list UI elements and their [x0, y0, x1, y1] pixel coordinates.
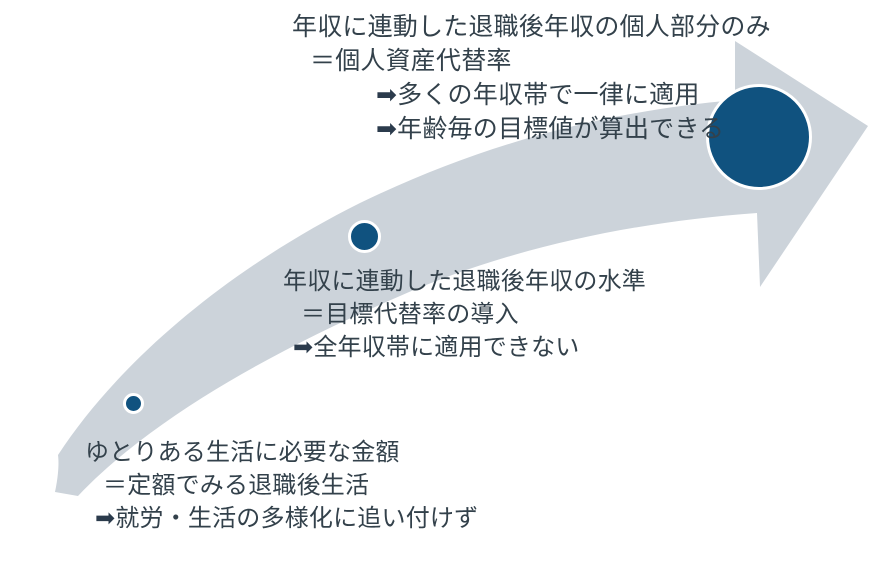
text-block-stage3: 年収に連動した退職後年収の個人部分のみ ＝個人資産代替率 ➡多くの年収帯で一律に…	[292, 10, 771, 146]
stage3-line-2: ＝個人資産代替率	[292, 44, 771, 78]
text-block-stage1: ゆとりある生活に必要な金額 ＝定額でみる退職後生活 ➡就労・生活の多様化に追い付…	[85, 437, 478, 536]
arrow-bullet-icon: ➡	[293, 333, 313, 361]
stage3-line-4-text: 年齢毎の目標値が算出できる	[397, 115, 724, 143]
stage2-line-3: ➡全年収帯に適用できない	[283, 331, 646, 365]
milestone-dot-stage1	[123, 393, 144, 414]
stage2-line-3-text: 全年収帯に適用できない	[313, 334, 579, 361]
stage1-line-2: ＝定額でみる退職後生活	[85, 470, 478, 503]
milestone-dot-stage2	[348, 220, 381, 253]
stage1-line-3: ➡就労・生活の多様化に追い付けず	[85, 502, 478, 536]
arrow-bullet-icon: ➡	[376, 80, 397, 109]
arrow-bullet-icon: ➡	[376, 114, 397, 143]
slide-canvas: 年収に連動した退職後年収の個人部分のみ ＝個人資産代替率 ➡多くの年収帯で一律に…	[0, 0, 870, 568]
stage1-line-3-text: 就労・生活の多様化に追い付けず	[115, 505, 478, 532]
text-block-stage2: 年収に連動した退職後年収の水準 ＝目標代替率の導入 ➡全年収帯に適用できない	[283, 266, 646, 365]
stage2-line-1: 年収に連動した退職後年収の水準	[283, 266, 646, 299]
stage2-line-2: ＝目標代替率の導入	[283, 299, 646, 332]
stage1-line-1: ゆとりある生活に必要な金額	[85, 437, 478, 470]
stage3-line-1: 年収に連動した退職後年収の個人部分のみ	[292, 10, 771, 44]
stage3-line-3-text: 多くの年収帯で一律に適用	[397, 81, 699, 109]
arrow-bullet-icon: ➡	[95, 504, 115, 532]
stage3-line-4: ➡年齢毎の目標値が算出できる	[292, 112, 771, 146]
stage3-line-3: ➡多くの年収帯で一律に適用	[292, 78, 771, 112]
